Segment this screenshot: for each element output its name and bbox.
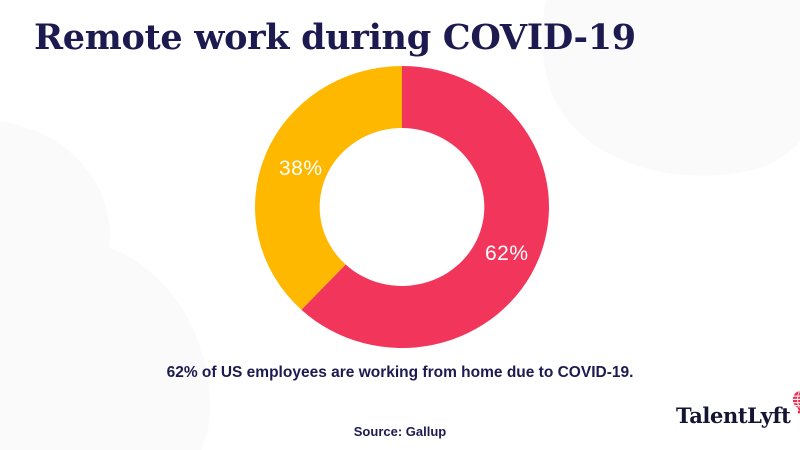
chart-caption: 62% of US employees are working from hom… <box>150 362 650 384</box>
infographic-canvas: Remote work during COVID-19 38% 62% 62% … <box>0 0 800 450</box>
page-title: Remote work during COVID-19 <box>34 17 636 58</box>
hot-air-balloon-icon <box>791 391 800 422</box>
donut-slice-minor[interactable] <box>255 66 402 310</box>
donut-chart: 38% 62% <box>253 64 551 350</box>
donut-chart-svg <box>253 64 551 350</box>
chart-source: Source: Gallup <box>150 424 650 439</box>
donut-label-major: 62% <box>485 242 529 266</box>
background-blob-bottom-left <box>0 240 210 450</box>
background-blob-mid-left <box>0 120 110 360</box>
donut-label-minor: 38% <box>279 157 323 181</box>
logo-wordmark: TalentLyft <box>676 405 790 426</box>
talentlyft-logo[interactable]: TalentLyft <box>676 392 800 426</box>
